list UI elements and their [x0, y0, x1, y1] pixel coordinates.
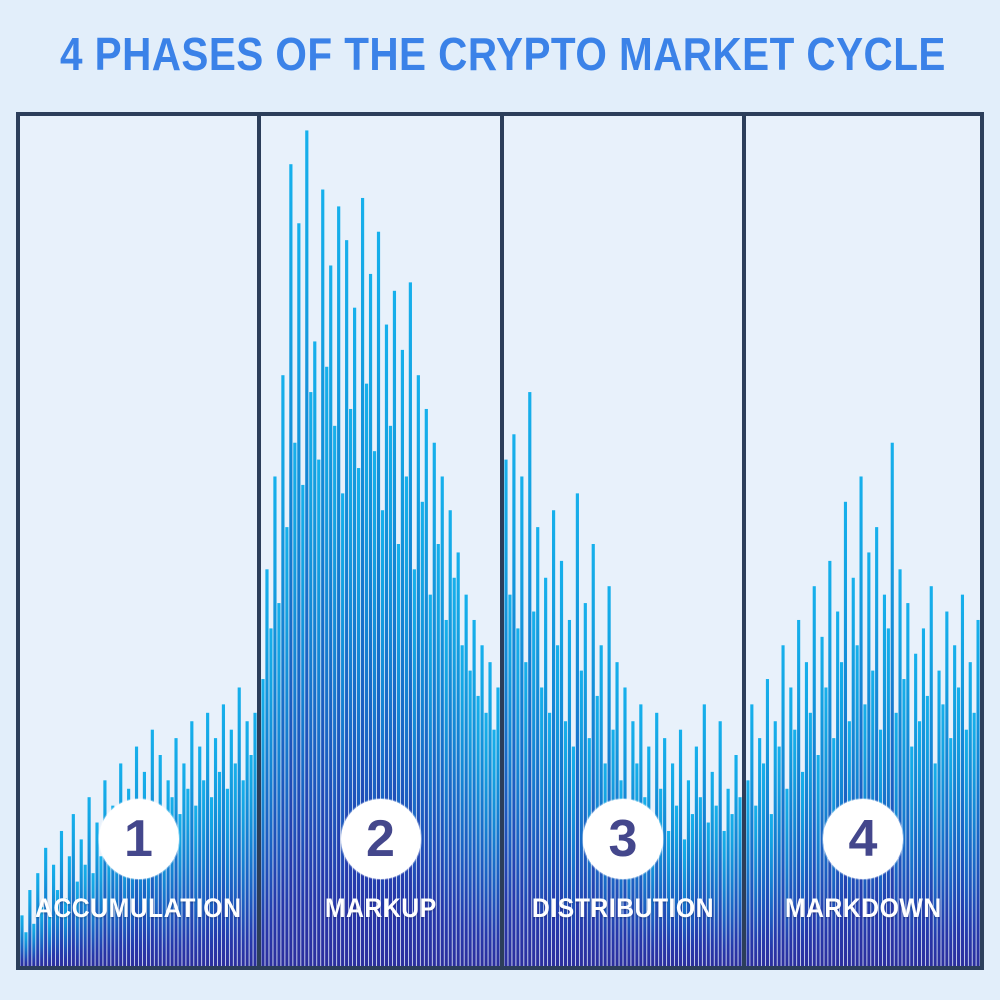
phase-badge-2[interactable]: 2	[341, 799, 421, 879]
phase-badge-3[interactable]: 3	[583, 799, 663, 879]
phase-block-2[interactable]: 2 MARKUP	[261, 799, 500, 966]
phase-label-3: DISTRIBUTION	[532, 893, 714, 924]
phase-number-1: 1	[124, 813, 153, 865]
phase-label-2: MARKUP	[325, 893, 437, 924]
phase-badge-1[interactable]: 1	[99, 799, 179, 879]
phase-label-4: MARKDOWN	[785, 893, 942, 924]
phase-number-2: 2	[366, 813, 395, 865]
phase-block-4[interactable]: 4 MARKDOWN	[746, 799, 980, 966]
page-title: 4 PHASES OF THE CRYPTO MARKET CYCLE	[60, 26, 940, 82]
phase-label-1: ACCUMULATION	[35, 893, 242, 924]
phase-block-3[interactable]: 3 DISTRIBUTION	[504, 799, 742, 966]
phase-number-3: 3	[609, 813, 638, 865]
chart-frame: 1 ACCUMULATION 2 MARKUP 3 DISTRIBUTION 4…	[16, 112, 984, 970]
phase-block-1[interactable]: 1 ACCUMULATION	[20, 799, 257, 966]
phase-number-4: 4	[849, 813, 878, 865]
phase-badge-4[interactable]: 4	[823, 799, 903, 879]
